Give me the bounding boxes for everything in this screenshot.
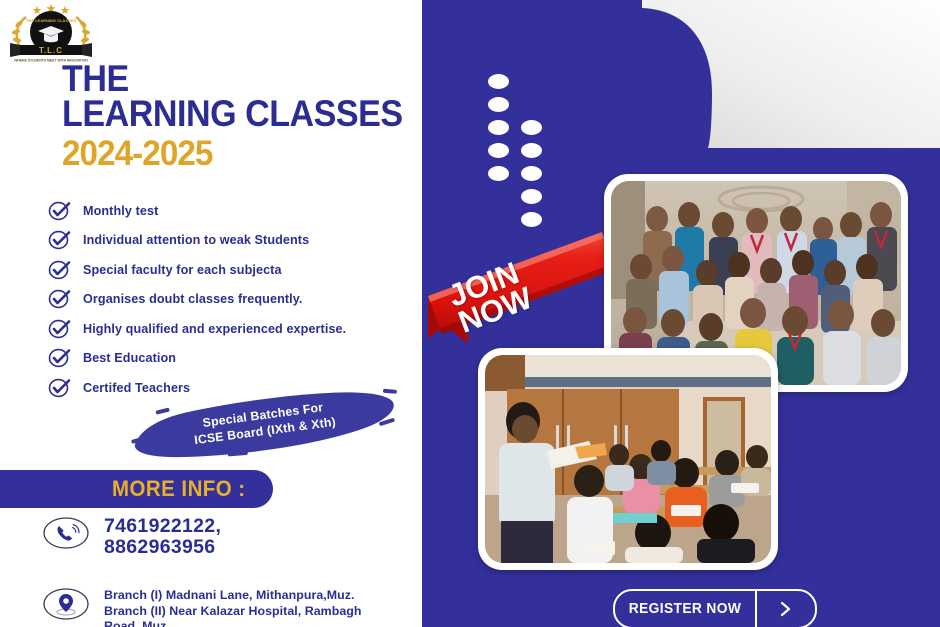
list-item: Organises doubt classes frequently. [48, 285, 428, 315]
chevron-right-icon[interactable] [757, 600, 815, 618]
location-pin-icon [42, 586, 90, 622]
list-item: Highly qualified and experienced experti… [48, 314, 428, 344]
list-item: Special faculty for each subjecta [48, 255, 428, 285]
list-item: Individual attention to weak Students [48, 226, 428, 256]
phone-numbers[interactable]: 7461922122, 8862963956 [104, 516, 221, 558]
feature-label: Organises doubt classes frequently. [83, 292, 303, 306]
check-circle-icon [48, 288, 72, 310]
dot-decoration-item [488, 74, 509, 89]
dot-decoration-item [488, 166, 509, 181]
feature-label: Special faculty for each subjecta [83, 263, 282, 277]
list-item: Best Education [48, 344, 428, 374]
check-circle-icon [48, 200, 72, 222]
classroom-photo [478, 348, 778, 570]
address-line-1: Branch (I) Madnani Lane, Mithanpura,Muz. [104, 588, 355, 602]
phone-number-2[interactable]: 8862963956 [104, 536, 215, 558]
dot-decoration-item [488, 120, 509, 135]
feature-label: Individual attention to weak Students [83, 233, 309, 247]
join-now-ribbon[interactable]: JOIN NOW [424, 222, 614, 362]
dot-decoration-item [488, 143, 509, 158]
phone-number-1[interactable]: 7461922122, [104, 515, 221, 537]
dot-decoration-item [521, 143, 542, 158]
check-circle-icon [48, 229, 72, 251]
headline-line-2: LEARNING CLASSES [62, 96, 384, 132]
headline-line-1: THE [62, 62, 384, 96]
check-circle-icon [48, 377, 72, 399]
check-circle-icon [48, 318, 72, 340]
feature-label: Monthly test [83, 204, 158, 218]
dot-decoration-item [521, 166, 542, 181]
check-circle-icon [48, 259, 72, 281]
feature-list: Monthly test Individual attention to wea… [48, 196, 428, 403]
svg-text:THE LEARNING CLASSES: THE LEARNING CLASSES [26, 18, 76, 23]
check-circle-icon [48, 347, 72, 369]
address-text: Branch (I) Madnani Lane, Mithanpura,Muz.… [104, 588, 362, 627]
svg-text:T.L.C: T.L.C [39, 46, 63, 55]
address-contact-row: Branch (I) Madnani Lane, Mithanpura,Muz.… [42, 586, 362, 627]
feature-label: Highly qualified and experienced experti… [83, 322, 346, 336]
phone-contact-row: 7461922122, 8862963956 [42, 515, 221, 558]
headline-block: THE LEARNING CLASSES 2024-2025 [62, 62, 412, 172]
register-now-label: REGISTER NOW [619, 601, 752, 617]
register-now-button[interactable]: REGISTER NOW [613, 589, 817, 627]
phone-icon [42, 515, 90, 551]
list-item: Monthly test [48, 196, 428, 226]
dot-decoration-item [521, 189, 542, 204]
feature-label: Certifed Teachers [83, 381, 190, 395]
address-line-3: Road, Muz. [104, 619, 170, 627]
address-line-2: Branch (II) Near Kalazar Hospital, Ramba… [104, 604, 362, 618]
dot-decoration-item [488, 97, 509, 112]
academic-year: 2024-2025 [62, 136, 395, 172]
feature-label: Best Education [83, 351, 176, 365]
dot-decoration-item [521, 120, 542, 135]
more-info-banner: MORE INFO : [0, 470, 273, 508]
tlc-logo: THE LEARNING CLASSES T.L.C WHERE STUDENT… [6, 2, 96, 64]
more-info-heading: MORE INFO : [112, 476, 246, 502]
poster-canvas: THE LEARNING CLASSES T.L.C WHERE STUDENT… [0, 0, 940, 627]
dot-decoration [488, 74, 548, 234]
